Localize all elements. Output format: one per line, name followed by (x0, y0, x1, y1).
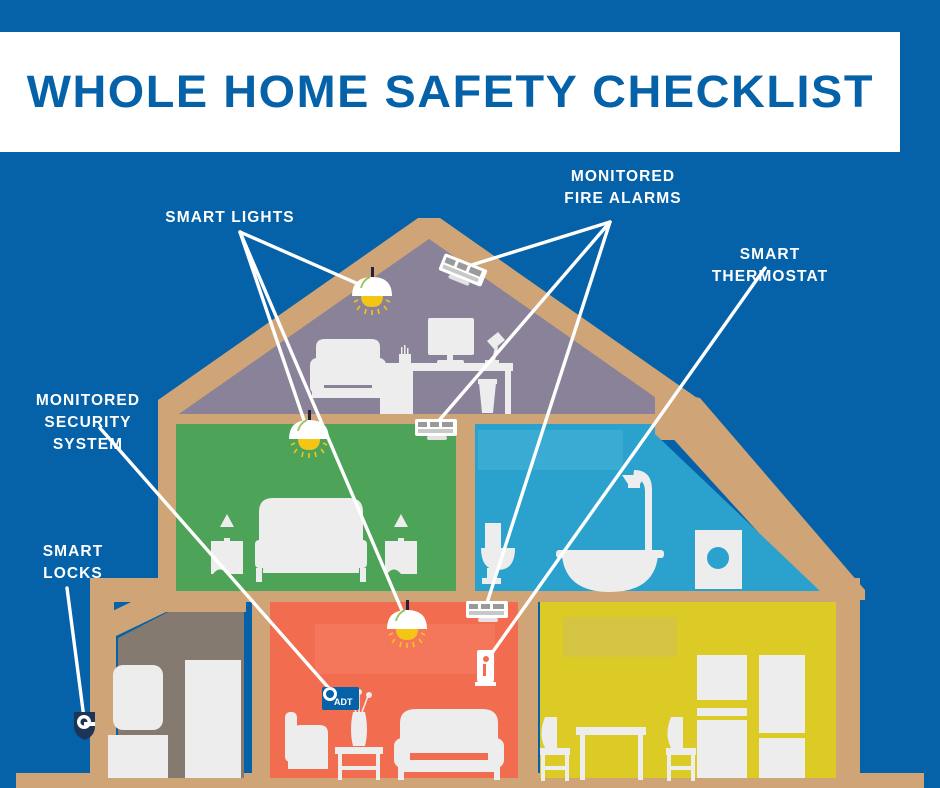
room-kitchen (540, 602, 836, 781)
callout-monitored-security-system: MONITORED SECURITY SYSTEM (18, 390, 158, 456)
callout-smart-lights: SMART LIGHTS (165, 207, 295, 229)
infographic-canvas: ADT WHOLE HOME SAFETY CHECKLIST SMART LI… (0, 0, 940, 788)
callout-smart-thermostat: SMART THERMOSTAT (700, 244, 840, 288)
smart-thermostat-device (475, 650, 496, 686)
room-bedroom (176, 424, 456, 591)
title-banner: WHOLE HOME SAFETY CHECKLIST (0, 32, 900, 152)
callout-monitored-fire-alarms: MONITORED FIRE ALARMS (548, 166, 698, 210)
security-panel: ADT (322, 687, 359, 710)
page-title: WHOLE HOME SAFETY CHECKLIST (26, 66, 873, 118)
room-mudroom (108, 612, 244, 778)
callout-smart-locks: SMART LOCKS (18, 541, 128, 585)
security-panel-label: ADT (334, 697, 353, 707)
